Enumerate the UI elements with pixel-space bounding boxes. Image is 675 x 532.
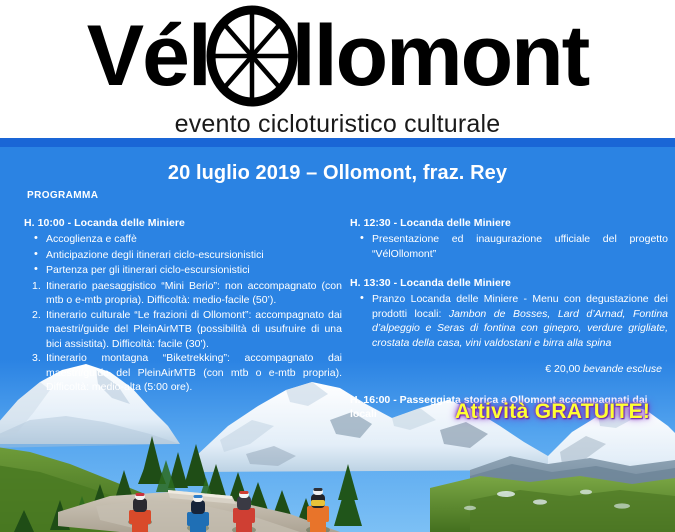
program-slot-heading: H. 12:30 - Locanda delle Miniere xyxy=(350,216,668,230)
list-item: Pranzo Locanda delle Miniere - Menu con … xyxy=(372,292,668,350)
list-item: Presentazione ed inaugurazione ufficiale… xyxy=(372,232,668,261)
spacer xyxy=(350,262,668,276)
itinerary-numbered-list: Itinerario paesaggistico “Mini Berio”: n… xyxy=(24,279,342,395)
price-note: bevande escluse xyxy=(583,363,662,375)
program-slot-heading: H. 10:00 - Locanda delle Miniere xyxy=(24,216,342,230)
bicycle-wheel-icon xyxy=(204,4,300,108)
poster-tagline: evento cicloturistico culturale xyxy=(0,110,675,138)
price-amount: € 20,00 xyxy=(545,363,580,375)
poster-header: Vél llomont evento cicloturistico cultur… xyxy=(0,0,675,138)
program-column-left: H. 10:00 - Locanda delle Miniere Accogli… xyxy=(24,216,342,395)
event-poster: Vél llomont evento cicloturistico cultur… xyxy=(0,0,675,532)
list-item: Itinerario culturale “Le frazioni di Oll… xyxy=(46,308,342,352)
program-slot-heading: H. 13:30 - Locanda delle Miniere xyxy=(350,276,668,290)
logo-wordmark: Vél llomont xyxy=(0,2,675,110)
event-date-location: 20 luglio 2019 – Ollomont, fraz. Rey xyxy=(0,162,675,185)
list-item: Itinerario montagna “Biketrekking”: acco… xyxy=(46,351,342,395)
list-item: Anticipazione degli itinerari ciclo-escu… xyxy=(46,248,342,263)
list-item: Partenza per gli itinerari ciclo-escursi… xyxy=(46,263,342,278)
list-item: Accoglienza e caffè xyxy=(46,232,342,247)
logo-text-prefix: Vél xyxy=(87,8,210,104)
list-item-text: Presentazione ed inaugurazione ufficiale… xyxy=(372,233,668,260)
list-item: Itinerario paesaggistico “Mini Berio”: n… xyxy=(46,279,342,308)
program-column-right: H. 12:30 - Locanda delle Miniere Present… xyxy=(350,216,668,421)
program-bullet-list: Presentazione ed inaugurazione ufficiale… xyxy=(350,232,668,261)
logo-text-suffix: llomont xyxy=(292,8,589,104)
program-panel: 20 luglio 2019 – Ollomont, fraz. Rey PRO… xyxy=(0,138,675,532)
program-bullet-list: Pranzo Locanda delle Miniere - Menu con … xyxy=(350,292,668,350)
program-section-label: PROGRAMMA xyxy=(27,190,98,201)
free-activities-callout: Attività GRATUITE! xyxy=(455,400,650,424)
panel-top-strip xyxy=(0,138,675,147)
program-bullet-list: Accoglienza e caffè Anticipazione degli … xyxy=(24,232,342,278)
lunch-price: € 20,00 bevande escluse xyxy=(350,362,668,377)
